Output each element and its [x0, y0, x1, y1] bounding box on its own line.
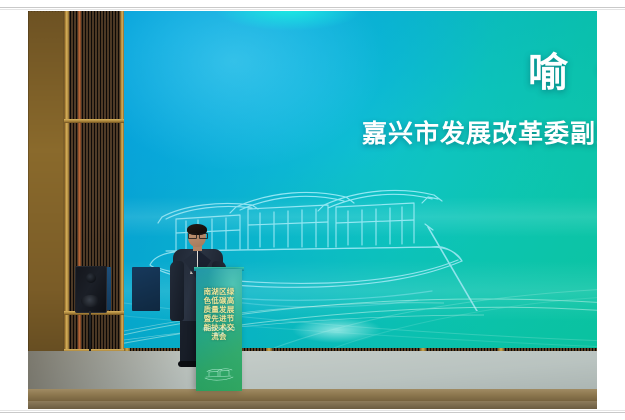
stage-photograph: 喻 伟 嘉兴市发展改革委副主任 [28, 11, 597, 409]
presenter-eyeglass-left [188, 233, 197, 239]
floor-in-front-of-stage [28, 401, 597, 409]
screen-speaker-title: 嘉兴市发展改革委副主任 [362, 119, 597, 149]
wall-acoustic-panel [132, 267, 160, 311]
podium: 南湖区绿色低碳高质量发展 暨先进节能技术交流会 绿色低碳 节能增效 共建共享 [196, 269, 242, 391]
screen-speaker-name: 喻 伟 [528, 51, 597, 95]
frame-bottom-rule-2 [0, 410, 625, 411]
warm-lit-wall-panel [28, 11, 64, 409]
photo-frame: 喻 伟 嘉兴市发展改革委副主任 [0, 0, 625, 420]
frame-top-rule-2 [0, 9, 625, 10]
podium-banner-subtitle: 绿色低碳 节能增效 共建共享 [201, 327, 237, 337]
frame-bottom-rule [0, 412, 625, 413]
presenter-arm-left [170, 261, 184, 321]
pa-loudspeaker [75, 266, 107, 313]
presenter-eyeglass-right [199, 233, 208, 239]
brass-rail-1 [64, 119, 124, 123]
loudspeaker-cone [81, 295, 100, 307]
podium-red-boat-graphic [203, 367, 235, 383]
loudspeaker-tweeter [86, 273, 96, 283]
podium-banner-line-1: 南湖区绿色低碳高质量发展 [202, 287, 236, 314]
frame-top-rule [0, 7, 625, 8]
